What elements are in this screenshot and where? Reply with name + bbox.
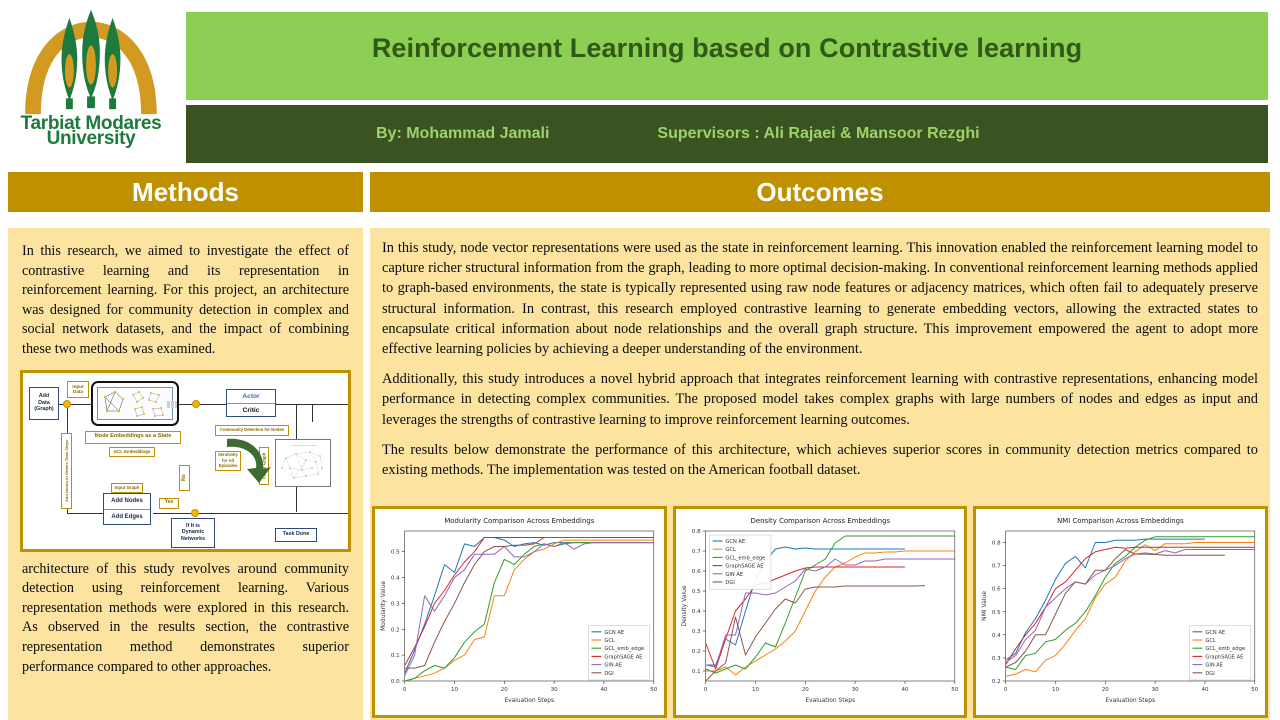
svg-text:NMI Comparison Across Embeddin: NMI Comparison Across Embeddings <box>1057 517 1184 525</box>
section-title-outcomes: Outcomes <box>756 177 883 208</box>
svg-text:0.3: 0.3 <box>992 656 1001 662</box>
svg-text:10: 10 <box>1052 687 1059 693</box>
svg-text:40: 40 <box>600 687 607 693</box>
svg-text:Density Value: Density Value <box>681 585 688 626</box>
outcomes-paragraph-1: In this study, node vector representatio… <box>370 228 1270 359</box>
outcomes-paragraph-2: Additionally, this study introduces a no… <box>370 359 1270 430</box>
svg-text:GCL: GCL <box>725 547 736 553</box>
svg-text:DGI: DGI <box>1206 671 1216 677</box>
svg-text:0.1: 0.1 <box>692 669 701 675</box>
svg-text:NMI Value: NMI Value <box>981 591 988 621</box>
svg-text:0: 0 <box>704 687 708 693</box>
methods-paragraph-2: architecture of this study revolves arou… <box>8 552 363 678</box>
svg-text:GCL: GCL <box>604 638 615 644</box>
university-logo: Tarbiat Modares University <box>0 0 182 163</box>
svg-text:50: 50 <box>1252 687 1259 693</box>
svg-text:0.7: 0.7 <box>992 564 1001 570</box>
outcomes-paragraph-3: The results below demonstrate the perfor… <box>370 430 1270 480</box>
svg-text:GraphSAGE AE: GraphSAGE AE <box>604 654 642 660</box>
svg-text:20: 20 <box>501 687 508 693</box>
svg-text:50: 50 <box>951 687 958 693</box>
poster-title-bar: Reinforcement Learning based on Contrast… <box>186 12 1268 100</box>
svg-text:0.2: 0.2 <box>992 679 1001 685</box>
svg-text:50: 50 <box>650 687 657 693</box>
svg-text:0.4: 0.4 <box>992 633 1001 639</box>
section-header-methods: Methods <box>8 172 363 212</box>
svg-text:GraphSAGE AE: GraphSAGE AE <box>725 564 763 570</box>
tarbiat-modares-logo-icon <box>16 8 166 118</box>
svg-text:0.6: 0.6 <box>992 587 1001 593</box>
svg-text:0.8: 0.8 <box>692 529 701 535</box>
svg-text:Evaluation Steps: Evaluation Steps <box>1106 697 1156 704</box>
svg-text:Evaluation Steps: Evaluation Steps <box>504 697 554 704</box>
svg-text:DGI: DGI <box>725 580 735 586</box>
chart-density: Density Comparison Across Embeddings0102… <box>673 506 968 718</box>
svg-text:0.5: 0.5 <box>992 610 1001 616</box>
supervisors-names: Supervisors : Ali Rajaei & Mansoor Rezgh… <box>657 125 979 143</box>
svg-text:GCL_emb_edge: GCL_emb_edge <box>1206 646 1246 652</box>
authors-bar: By: Mohammad Jamali Supervisors : Ali Ra… <box>186 105 1268 163</box>
svg-text:30: 30 <box>851 687 858 693</box>
svg-text:10: 10 <box>752 687 759 693</box>
svg-text:Modularity Comparison Across E: Modularity Comparison Across Embeddings <box>444 517 594 525</box>
svg-text:0.4: 0.4 <box>391 576 400 582</box>
svg-text:0.8: 0.8 <box>992 541 1001 547</box>
svg-text:DGI: DGI <box>604 671 614 677</box>
section-header-outcomes: Outcomes <box>370 172 1270 212</box>
svg-text:GCN AE: GCN AE <box>725 539 745 545</box>
svg-text:0.7: 0.7 <box>692 549 701 555</box>
logo-line-2: University <box>47 129 136 148</box>
svg-text:0.6: 0.6 <box>692 569 701 575</box>
svg-text:Density Comparison Across Embe: Density Comparison Across Embeddings <box>750 517 890 525</box>
svg-text:community detection graph: community detection graph <box>291 444 316 447</box>
svg-text:30: 30 <box>1152 687 1159 693</box>
svg-text:0.3: 0.3 <box>391 601 400 607</box>
svg-text:0.4: 0.4 <box>692 609 701 615</box>
svg-text:0.3: 0.3 <box>692 629 701 635</box>
page-title: Reinforcement Learning based on Contrast… <box>372 33 1082 64</box>
outcomes-panel: In this study, node vector representatio… <box>370 228 1270 720</box>
results-charts-row: Modularity Comparison Across Embeddings0… <box>370 506 1270 718</box>
svg-text:GraphSAGE AE: GraphSAGE AE <box>1206 654 1244 660</box>
section-title-methods: Methods <box>132 177 239 208</box>
svg-text:0.2: 0.2 <box>692 649 701 655</box>
svg-text:GIN AE: GIN AE <box>604 663 622 669</box>
svg-text:Evaluation Steps: Evaluation Steps <box>805 697 855 704</box>
svg-text:GIN AE: GIN AE <box>1206 663 1224 669</box>
svg-text:GCN AE: GCN AE <box>1206 630 1226 636</box>
methods-panel: In this research, we aimed to investigat… <box>8 228 363 720</box>
svg-text:GIN AE: GIN AE <box>725 572 743 578</box>
svg-text:GCL: GCL <box>1206 638 1217 644</box>
svg-text:GCN AE: GCN AE <box>604 630 624 636</box>
poster-root: Tarbiat Modares University Reinforcement… <box>0 0 1280 720</box>
svg-text:0.5: 0.5 <box>692 589 701 595</box>
svg-text:30: 30 <box>551 687 558 693</box>
svg-text:0.2: 0.2 <box>391 627 400 633</box>
svg-text:GCL_emb_edge: GCL_emb_edge <box>604 646 644 652</box>
methods-paragraph-1: In this research, we aimed to investigat… <box>8 228 363 360</box>
svg-text:40: 40 <box>1202 687 1209 693</box>
svg-text:Modularity Value: Modularity Value <box>380 581 387 631</box>
svg-text:20: 20 <box>801 687 808 693</box>
chart-nmi: NMI Comparison Across Embeddings01020304… <box>973 506 1268 718</box>
svg-text:10: 10 <box>451 687 458 693</box>
svg-text:40: 40 <box>901 687 908 693</box>
svg-text:0: 0 <box>1004 687 1008 693</box>
svg-text:GCL_emb_edge: GCL_emb_edge <box>725 555 765 561</box>
svg-text:0.1: 0.1 <box>391 653 400 659</box>
svg-text:0.0: 0.0 <box>391 679 400 685</box>
svg-text:0: 0 <box>403 687 407 693</box>
svg-text:0.5: 0.5 <box>391 550 400 556</box>
architecture-diagram: AddData(Graph) InputData <box>20 370 351 552</box>
svg-text:20: 20 <box>1102 687 1109 693</box>
chart-modularity: Modularity Comparison Across Embeddings0… <box>372 506 667 718</box>
author-name: By: Mohammad Jamali <box>376 125 549 143</box>
